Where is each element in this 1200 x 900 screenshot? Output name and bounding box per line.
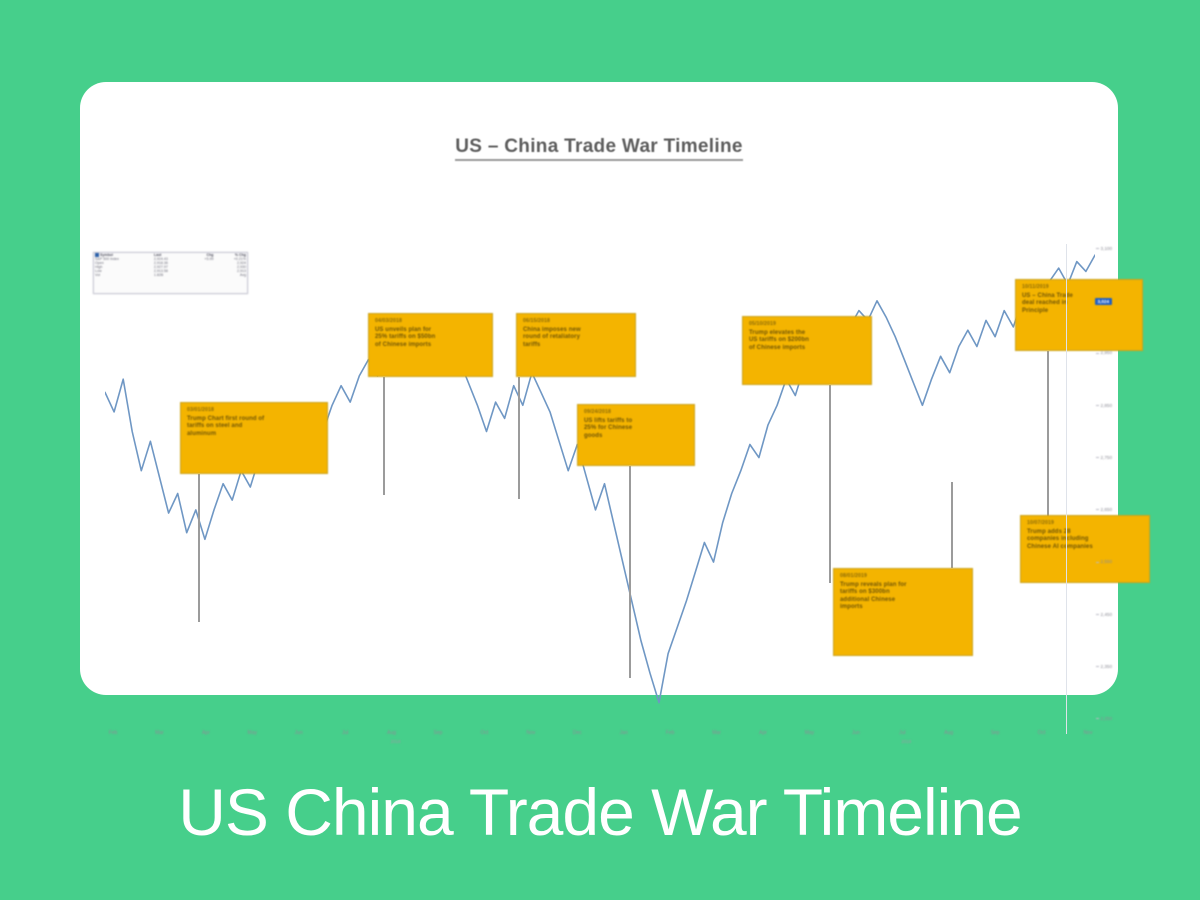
x-axis-tick: Feb	[666, 730, 675, 736]
y-axis-current-price: 3,024	[1095, 298, 1113, 305]
y-axis-tick: 2,450	[1096, 612, 1113, 617]
callout-date: 05/10/2019	[749, 321, 866, 327]
x-axis-tick: Sep	[991, 730, 1000, 736]
x-axis-tick: Jan	[620, 730, 628, 736]
y-tick-label: 3,100	[1101, 246, 1113, 251]
callout-leader-line	[198, 474, 200, 622]
y-tick-label: 2,850	[1101, 403, 1113, 408]
callout-text-line: Trump elevates the	[749, 330, 866, 338]
y-axis-tick: 2,850	[1096, 403, 1113, 408]
callout-text-line: US tariffs on $200bn	[749, 337, 866, 345]
tick-dash-icon	[1096, 405, 1099, 406]
callout-text-line: tariffs on steel and	[187, 423, 322, 431]
y-axis-tick: 2,250	[1096, 716, 1113, 721]
callout-text-line: 25% for Chinese	[584, 425, 689, 433]
y-axis-tick: 2,350	[1096, 664, 1113, 669]
callout-text-line: Trump reveals plan for	[840, 582, 967, 590]
callout-text-line: goods	[584, 433, 689, 441]
callout-text-line: imports	[840, 604, 967, 612]
y-tick-label: 2,550	[1101, 559, 1113, 564]
callout-leader-line	[629, 466, 631, 678]
tick-dash-icon	[1096, 614, 1099, 615]
y-axis-tick: 2,750	[1096, 455, 1113, 460]
callout-date: 09/24/2018	[584, 409, 689, 415]
x-axis-tick: May	[248, 730, 257, 736]
callout-text-line: Trump Chart first round of	[187, 416, 322, 424]
callout-text-line: US unveils plan for	[375, 327, 487, 335]
x-axis-tick: Mar	[712, 730, 721, 736]
x-axis-tick: Apr	[759, 730, 767, 736]
annotation-callout[interactable]: 09/24/2018US lifts tariffs to25% for Chi…	[577, 404, 695, 466]
y-axis-tick: 3,100	[1096, 246, 1113, 251]
callout-date: 04/03/2018	[375, 318, 487, 324]
annotation-callout[interactable]: 03/01/2018Trump Chart first round oftari…	[180, 402, 328, 474]
x-axis-tick: Nov	[526, 730, 535, 736]
x-axis-tick: Mar	[155, 730, 164, 736]
x-axis-tick: Apr	[202, 730, 210, 736]
y-axis-tick: 2,650	[1096, 507, 1113, 512]
y-tick-label: 2,250	[1101, 716, 1113, 721]
x-axis-tick: Nov	[1084, 730, 1093, 736]
x-axis-tick: Jul	[899, 730, 905, 736]
x-axis-tick: Jul	[342, 730, 348, 736]
tick-dash-icon	[1096, 666, 1099, 667]
y-tick-label: 3,024	[1098, 299, 1110, 304]
x-axis-tick: Feb	[109, 730, 118, 736]
tick-dash-icon	[1096, 457, 1099, 458]
callout-text-line: round of retaliatory	[523, 334, 630, 342]
x-axis-year-label: 2018	[391, 739, 401, 744]
callout-text-line: tariffs on $300bn	[840, 589, 967, 597]
y-axis: 3,1003,0242,9502,8502,7502,6502,5502,450…	[1066, 244, 1112, 734]
callout-leader-line	[383, 377, 385, 495]
callout-date: 08/01/2019	[840, 573, 967, 579]
tick-dash-icon	[1096, 353, 1099, 354]
x-axis-tick: Oct	[481, 730, 489, 736]
page-banner: US China Trade War Timeline	[0, 757, 1200, 867]
y-axis-tick: 2,950	[1096, 350, 1113, 355]
callout-text-line: of Chinese imports	[749, 345, 866, 353]
y-tick-label: 2,950	[1101, 350, 1113, 355]
callout-leader-line	[518, 377, 520, 499]
callout-text-line: of Chinese imports	[375, 342, 487, 350]
y-tick-label: 2,350	[1101, 664, 1113, 669]
chart-title: US – China Trade War Timeline	[80, 136, 1118, 158]
x-axis-tick: May	[805, 730, 814, 736]
tick-dash-icon	[1096, 562, 1099, 563]
callout-text-line: US lifts tariffs to	[584, 418, 689, 426]
callout-leader-line	[829, 385, 831, 583]
tick-dash-icon	[1096, 718, 1099, 719]
x-axis-tick: Dec	[573, 730, 582, 736]
annotation-callout[interactable]: 05/10/2019Trump elevates theUS tariffs o…	[742, 316, 872, 385]
callout-text-line: aluminum	[187, 431, 322, 439]
annotation-callout[interactable]: 06/15/2018China imposes newround of reta…	[516, 313, 636, 377]
callout-date: 06/15/2018	[523, 318, 630, 324]
x-axis-tick: Jun	[852, 730, 860, 736]
callout-text-line: additional Chinese	[840, 597, 967, 605]
tick-dash-icon	[1096, 509, 1099, 510]
y-tick-label: 2,450	[1101, 612, 1113, 617]
callout-date: 03/01/2018	[187, 407, 322, 413]
x-axis: FebMarAprMayJunJulAugSepOctNovDecJanFebM…	[105, 730, 1095, 760]
tick-dash-icon	[1096, 248, 1099, 249]
x-axis-tick: Aug	[387, 730, 396, 736]
y-tick-label: 2,650	[1101, 507, 1113, 512]
callout-text-line: 25% tariffs on $50bn	[375, 334, 487, 342]
callout-leader-line	[951, 482, 953, 568]
annotation-callout[interactable]: 08/01/2019Trump reveals plan fortariffs …	[833, 568, 973, 656]
x-axis-tick: Sep	[434, 730, 443, 736]
callout-text-line: China imposes new	[523, 327, 630, 335]
annotation-callout[interactable]: 04/03/2018US unveils plan for25% tariffs…	[368, 313, 493, 377]
chart-card: US – China Trade War Timeline Symbol Las…	[80, 82, 1118, 695]
x-axis-tick: Oct	[1038, 730, 1046, 736]
x-axis-tick: Aug	[944, 730, 953, 736]
callout-text-line: tariffs	[523, 342, 630, 350]
x-axis-year-label: 2019	[901, 739, 911, 744]
y-axis-tick: 2,550	[1096, 559, 1113, 564]
banner-title: US China Trade War Timeline	[178, 774, 1022, 850]
callout-leader-line	[1047, 442, 1049, 515]
y-tick-label: 2,750	[1101, 455, 1113, 460]
x-axis-tick: Jun	[295, 730, 303, 736]
